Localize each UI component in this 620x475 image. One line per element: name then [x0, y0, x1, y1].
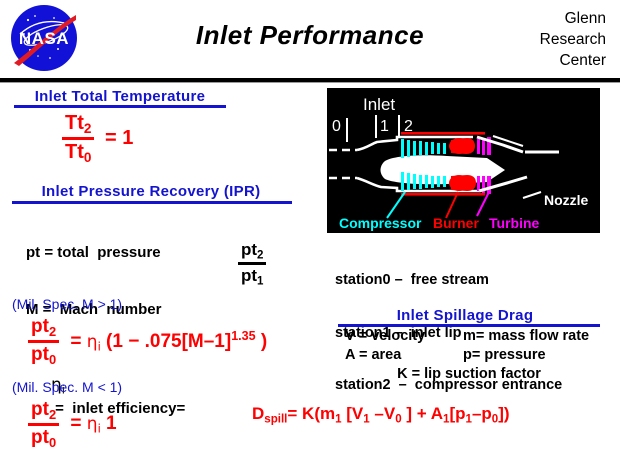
station-definition-item: station0 – free stream	[335, 272, 562, 290]
spillage-definition-row: A = area p= pressure	[333, 346, 613, 365]
spillage-definition-right: m= mass flow rate	[463, 327, 589, 346]
fraction-numerator: pt2	[28, 316, 59, 339]
fraction-denominator: pt1	[238, 266, 266, 287]
heading-underline-temperature	[14, 105, 226, 108]
center-line-3: Center	[486, 50, 606, 71]
spillage-definition-row: V = velocity m= mass flow rate	[333, 327, 613, 346]
diagram-station-mark-0: 0	[332, 118, 341, 135]
formula-spillage-drag: Dspill= K(m1 [V1 –V0 ] + A1[p1–p0])	[252, 404, 510, 425]
nasa-logo: NASA	[10, 4, 78, 72]
fraction-denominator: pt0	[28, 427, 59, 450]
spillage-definition-center: K = lip suction factor	[333, 365, 605, 384]
spillage-definition-left: V = velocity	[333, 327, 463, 346]
diagram-label-nozzle: Nozzle	[544, 192, 589, 208]
diagram-label-compressor: Compressor	[339, 215, 422, 231]
formula-ipr-subsonic: pt2 pt0 = ηi 1	[28, 399, 117, 450]
fraction-bar	[62, 137, 94, 140]
eta-symbol: ηi	[87, 414, 101, 434]
center-line-2: Research	[486, 29, 606, 50]
fraction-pt2-over-pt1: pt2 pt1	[238, 240, 266, 288]
header-divider	[0, 78, 620, 83]
engine-schematic-diagram: Inlet 0 1 2	[327, 88, 600, 233]
fraction-pt2-over-pt0: pt2 pt0	[28, 399, 59, 450]
diagram-station-mark-1: 1	[380, 118, 389, 135]
section-heading-inlet-spillage-drag: Inlet Spillage Drag	[355, 307, 575, 324]
spillage-definition-left: A = area	[333, 346, 463, 365]
center-line-1: Glenn	[486, 8, 606, 29]
nasa-center-name: Glenn Research Center	[486, 8, 606, 71]
page-title: Inlet Performance	[150, 20, 470, 51]
fraction-numerator: pt2	[28, 399, 59, 422]
formula-rhs-subsonic: = ηi 1	[64, 413, 116, 435]
formula-equals-one: = 1	[100, 127, 133, 150]
fraction-numerator: Tt2	[62, 112, 94, 136]
section-heading-inlet-total-temperature: Inlet Total Temperature	[20, 88, 220, 105]
note-milspec-supersonic: (Mil. Spec. M > 1)	[12, 296, 122, 312]
fraction-bar	[28, 423, 59, 426]
formula-rhs-supersonic: = ηi (1 − .075[M–1]1.35 )	[64, 329, 267, 353]
formula-total-temperature-ratio: Tt2 Tt0 = 1	[62, 112, 133, 165]
ipr-definition-item: pt = total pressure	[26, 243, 185, 262]
section-heading-inlet-pressure-recovery: Inlet Pressure Recovery (IPR)	[6, 183, 296, 200]
fraction-tt2-over-tt0: Tt2 Tt0	[62, 112, 94, 165]
fraction-denominator: Tt0	[62, 141, 94, 165]
slide-canvas: NASA Inlet Performance Glenn Research Ce…	[0, 0, 620, 464]
fraction-bar	[28, 340, 59, 343]
diagram-label-burner: Burner	[433, 215, 479, 231]
formula-inlet-efficiency-ratio: pt2 pt1	[238, 240, 266, 288]
diagram-label-inlet: Inlet	[363, 95, 395, 114]
formula-ipr-supersonic: pt2 pt0 = ηi (1 − .075[M–1]1.35 )	[28, 316, 267, 367]
fraction-pt2-over-pt0: pt2 pt0	[28, 316, 59, 367]
note-milspec-subsonic: (Mil. Spec. M < 1)	[12, 379, 122, 395]
heading-underline-ipr	[12, 201, 292, 204]
spillage-definition-right: p= pressure	[463, 346, 546, 365]
fraction-bar	[238, 262, 266, 265]
fraction-denominator: pt0	[28, 344, 59, 367]
fraction-numerator: pt2	[238, 240, 266, 261]
eta-symbol: ηi	[87, 332, 101, 352]
svg-text:NASA: NASA	[19, 29, 69, 48]
diagram-label-turbine: Turbine	[489, 215, 540, 231]
spillage-definition-list: V = velocity m= mass flow rate A = area …	[333, 327, 613, 384]
